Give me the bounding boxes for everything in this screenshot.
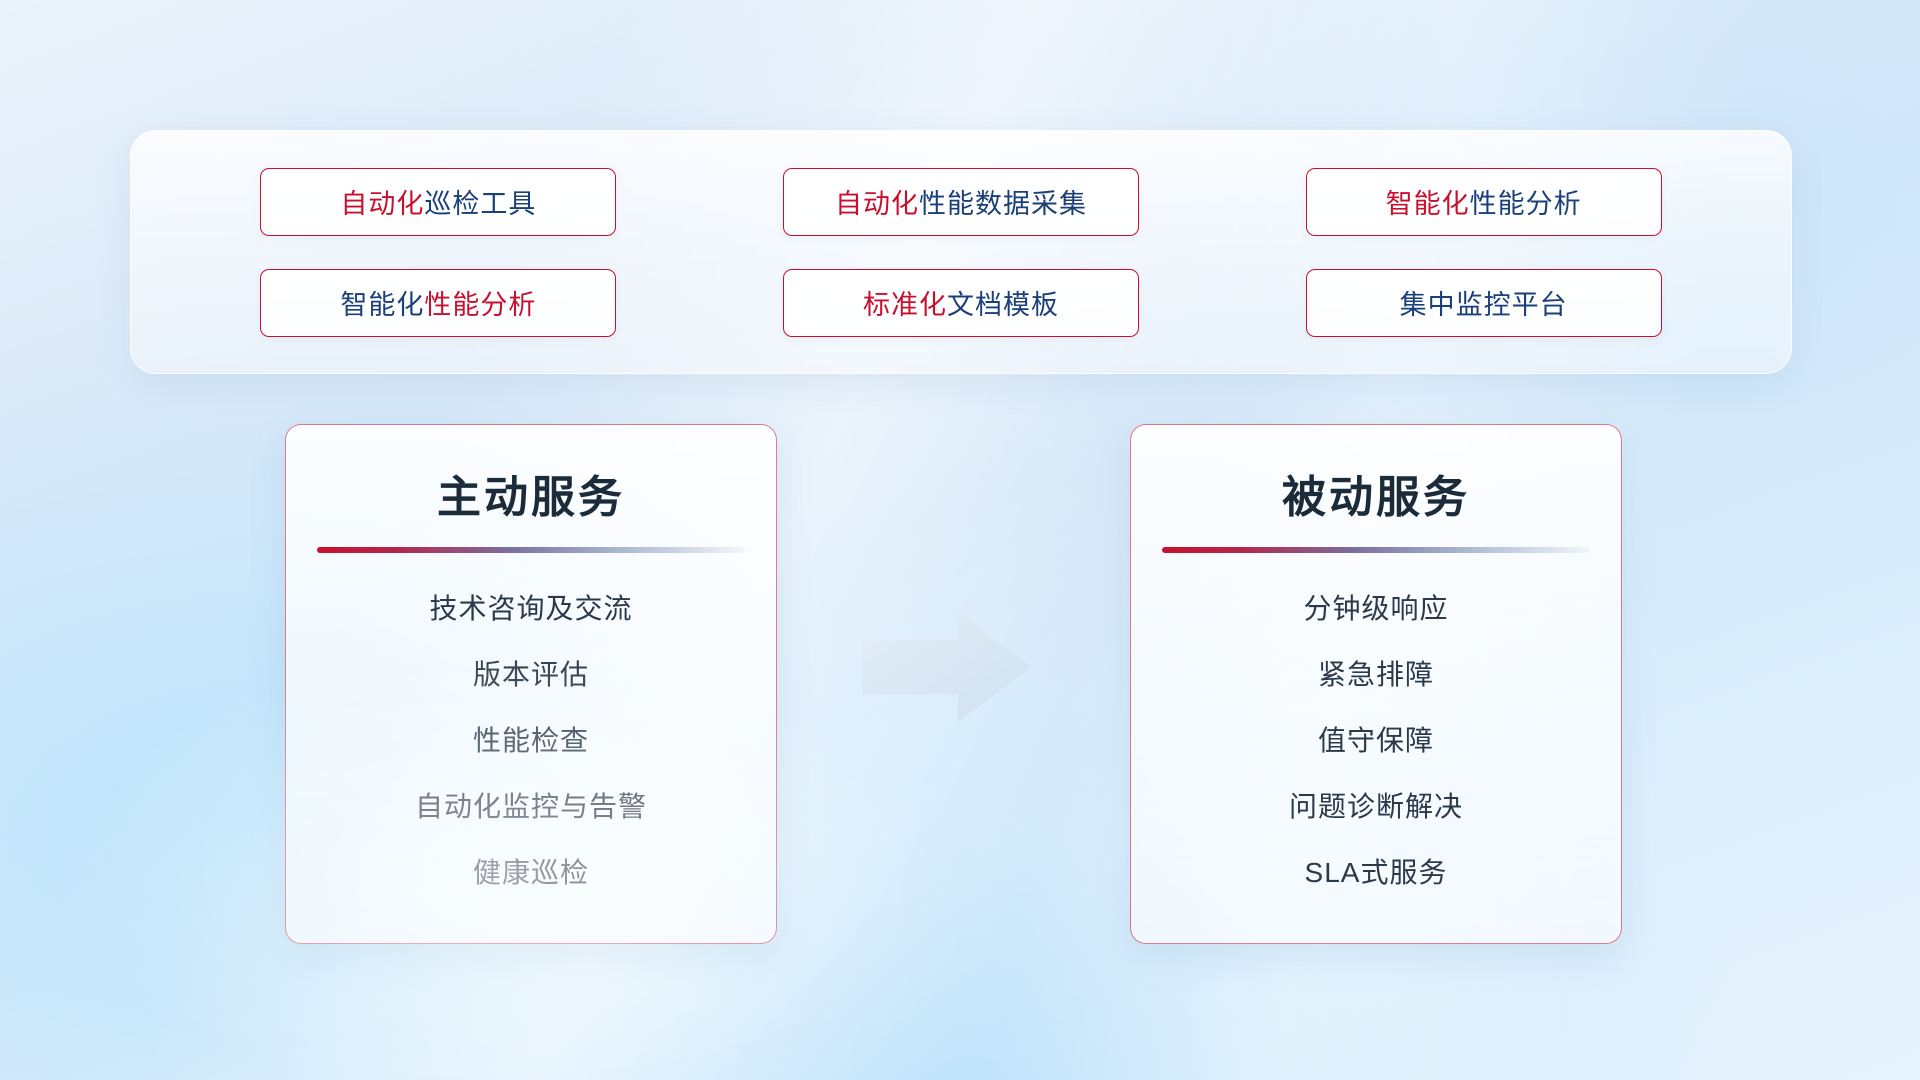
list-item: 分钟级响应 <box>1161 587 1591 627</box>
capability-tag-prefix: 智能化 <box>340 283 424 322</box>
card-divider <box>317 547 745 553</box>
right-arrow-icon <box>862 612 1032 722</box>
capability-tag-prefix: 集中 <box>1400 283 1456 322</box>
list-item: 版本评估 <box>316 653 746 693</box>
capability-tag-prefix: 智能化 <box>1386 182 1470 221</box>
list-item: 性能检查 <box>316 719 746 759</box>
service-card-proactive[interactable]: 主动服务 技术咨询及交流 版本评估 性能检查 自动化监控与告警 健康巡检 <box>285 424 777 944</box>
list-item: 健康巡检 <box>316 851 746 891</box>
capability-tag-standard-doc-template[interactable]: 标准化文档模板 <box>783 269 1139 337</box>
capability-tag-prefix: 标准化 <box>863 283 947 322</box>
capability-tag-suffix: 监控平台 <box>1456 283 1568 322</box>
capability-tag-prefix: 自动化 <box>835 182 919 221</box>
capability-tag-auto-performance-data[interactable]: 自动化性能数据采集 <box>783 168 1139 236</box>
list-item: SLA式服务 <box>1161 851 1591 891</box>
card-title: 被动服务 <box>1161 461 1591 525</box>
capability-panel: 自动化巡检工具 自动化性能数据采集 智能化性能分析 智能化性能分析 标准化文档模… <box>130 130 1792 374</box>
capability-tag-suffix: 巡检工具 <box>424 182 536 221</box>
list-item: 值守保障 <box>1161 719 1591 759</box>
list-item: 自动化监控与告警 <box>316 785 746 825</box>
capability-tag-intelligent-performance-analysis-1[interactable]: 智能化性能分析 <box>1306 168 1662 236</box>
capability-tag-suffix: 性能分析 <box>424 283 536 322</box>
card-title: 主动服务 <box>316 461 746 525</box>
service-card-reactive[interactable]: 被动服务 分钟级响应 紧急排障 值守保障 问题诊断解决 SLA式服务 <box>1130 424 1622 944</box>
capability-tag-intelligent-performance-analysis-2[interactable]: 智能化性能分析 <box>260 269 616 337</box>
capability-tag-auto-inspection-tool[interactable]: 自动化巡检工具 <box>260 168 616 236</box>
card-item-list: 分钟级响应 紧急排障 值守保障 问题诊断解决 SLA式服务 <box>1161 587 1591 891</box>
diagram-canvas: 自动化巡检工具 自动化性能数据采集 智能化性能分析 智能化性能分析 标准化文档模… <box>0 0 1920 1080</box>
capability-tag-suffix: 性能数据采集 <box>919 182 1087 221</box>
list-item: 紧急排障 <box>1161 653 1591 693</box>
capability-tag-suffix: 性能分析 <box>1470 182 1582 221</box>
capability-tag-central-monitor-platform[interactable]: 集中监控平台 <box>1306 269 1662 337</box>
card-divider <box>1162 547 1590 553</box>
capability-tag-prefix: 自动化 <box>340 182 424 221</box>
list-item: 技术咨询及交流 <box>316 587 746 627</box>
card-item-list: 技术咨询及交流 版本评估 性能检查 自动化监控与告警 健康巡检 <box>316 587 746 891</box>
list-item: 问题诊断解决 <box>1161 785 1591 825</box>
capability-tag-suffix: 文档模板 <box>947 283 1059 322</box>
